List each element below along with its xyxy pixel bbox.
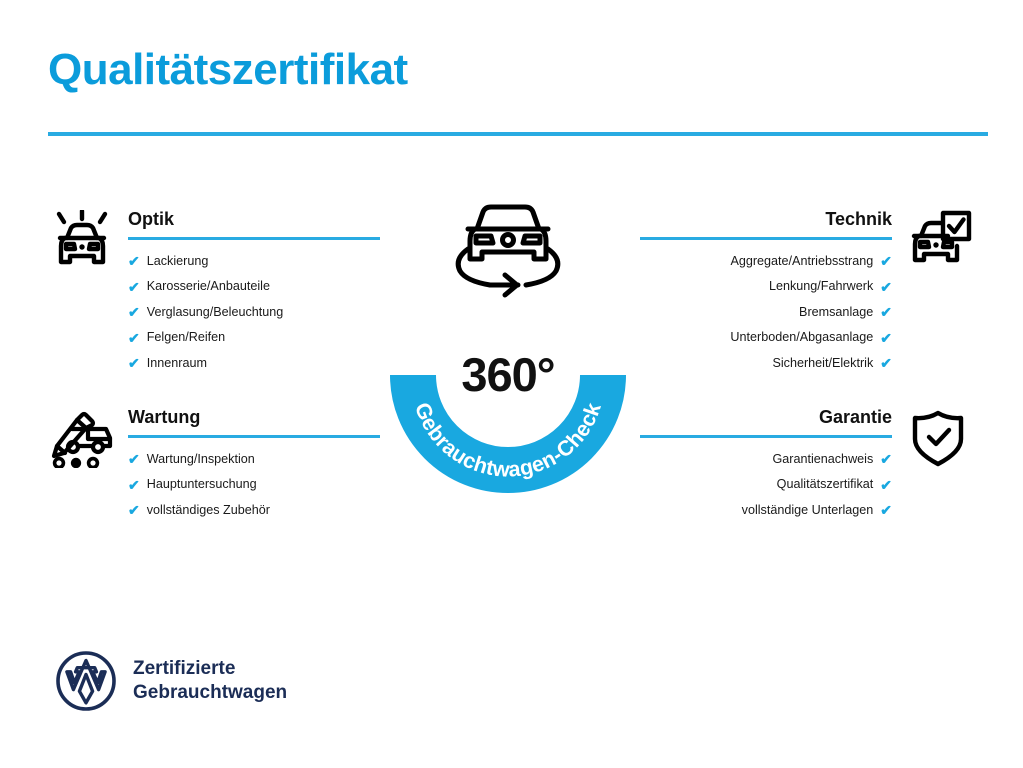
- section-wartung-body: Wartung ✔Wartung/Inspektion ✔Hauptunters…: [128, 408, 380, 529]
- car-checkbox-icon: [904, 210, 972, 277]
- list-item: ✔Lackierung: [128, 254, 380, 280]
- check-icon: ✔: [128, 503, 140, 517]
- list-item-label: Sicherheit/Elektrik: [772, 357, 873, 370]
- check-icon: ✔: [128, 280, 140, 294]
- footer-line-2: Gebrauchtwagen: [133, 681, 287, 705]
- checklist-technik: Aggregate/Antriebsstrang✔ Lenkung/Fahrwe…: [640, 254, 892, 382]
- list-item-label: Innenraum: [147, 357, 207, 370]
- check-icon: ✔: [880, 280, 892, 294]
- list-item-label: Aggregate/Antriebsstrang: [730, 255, 873, 268]
- list-item: ✔Karosserie/Anbauteile: [128, 280, 380, 306]
- list-item-label: Bremsanlage: [799, 306, 873, 319]
- checklist-wartung: ✔Wartung/Inspektion ✔Hauptuntersuchung ✔…: [128, 452, 380, 529]
- list-item: ✔vollständiges Zubehör: [128, 503, 380, 529]
- vw-logo-icon: [55, 650, 117, 712]
- check-icon: ✔: [880, 305, 892, 319]
- check-icon: ✔: [880, 331, 892, 345]
- header-divider: [48, 132, 988, 136]
- list-item-label: Lackierung: [147, 255, 209, 268]
- shield-check-icon: [904, 408, 972, 473]
- check-icon: ✔: [880, 452, 892, 466]
- section-divider: [128, 435, 380, 438]
- list-item: Garantienachweis✔: [640, 452, 892, 478]
- list-item-label: Unterboden/Abgasanlage: [730, 331, 873, 344]
- list-item: Lenkung/Fahrwerk✔: [640, 280, 892, 306]
- check-icon: ✔: [880, 356, 892, 370]
- list-item-label: Felgen/Reifen: [147, 331, 225, 344]
- badge-360-check: Gebrauchtwagen-Check: [388, 195, 628, 495]
- footer-brand-text: Zertifizierte Gebrauchtwagen: [133, 657, 287, 704]
- list-item: ✔Innenraum: [128, 356, 380, 382]
- list-item-label: Lenkung/Fahrwerk: [769, 280, 873, 293]
- check-icon: ✔: [128, 452, 140, 466]
- list-item: ✔Felgen/Reifen: [128, 331, 380, 357]
- check-icon: ✔: [128, 331, 140, 345]
- list-item: Bremsanlage✔: [640, 305, 892, 331]
- checklist-optik: ✔Lackierung ✔Karosserie/Anbauteile ✔Verg…: [128, 254, 380, 382]
- list-item: Unterboden/Abgasanlage✔: [640, 331, 892, 357]
- certificate-page: Qualitätszertifikat Optik: [0, 0, 1023, 768]
- section-heading: Optik: [128, 210, 380, 237]
- footer-line-1: Zertifizierte: [133, 657, 287, 681]
- list-item: vollständige Unterlagen✔: [640, 503, 892, 529]
- pencil-car-service-icon: [48, 408, 116, 473]
- section-heading: Garantie: [640, 408, 892, 435]
- section-heading: Technik: [640, 210, 892, 237]
- list-item-label: Wartung/Inspektion: [147, 453, 255, 466]
- check-icon: ✔: [128, 254, 140, 268]
- list-item: ✔Verglasung/Beleuchtung: [128, 305, 380, 331]
- list-item: ✔Wartung/Inspektion: [128, 452, 380, 478]
- list-item: ✔Hauptuntersuchung: [128, 478, 380, 504]
- section-divider: [640, 237, 892, 240]
- section-optik-body: Optik ✔Lackierung ✔Karosserie/Anbauteile…: [128, 210, 380, 382]
- check-icon: ✔: [128, 478, 140, 492]
- car-rotate-360-icon: [458, 207, 558, 295]
- checklist-garantie: Garantienachweis✔ Qualitätszertifikat✔ v…: [640, 452, 892, 529]
- car-shine-icon: [48, 210, 116, 277]
- page-title: Qualitätszertifikat: [48, 48, 408, 92]
- list-item: Aggregate/Antriebsstrang✔: [640, 254, 892, 280]
- list-item-label: Hauptuntersuchung: [147, 478, 257, 491]
- check-icon: ✔: [880, 503, 892, 517]
- footer-brand: Zertifizierte Gebrauchtwagen: [55, 650, 287, 712]
- check-icon: ✔: [128, 356, 140, 370]
- check-icon: ✔: [128, 305, 140, 319]
- section-divider: [640, 435, 892, 438]
- section-heading: Wartung: [128, 408, 380, 435]
- list-item-label: vollständige Unterlagen: [742, 504, 874, 517]
- list-item: Sicherheit/Elektrik✔: [640, 356, 892, 382]
- section-divider: [128, 237, 380, 240]
- list-item-label: Verglasung/Beleuchtung: [147, 306, 284, 319]
- list-item-label: Garantienachweis: [772, 453, 873, 466]
- list-item-label: Karosserie/Anbauteile: [147, 280, 270, 293]
- section-technik-body: Technik Aggregate/Antriebsstrang✔ Lenkun…: [640, 210, 892, 382]
- check-icon: ✔: [880, 254, 892, 268]
- list-item-label: Qualitätszertifikat: [777, 478, 874, 491]
- check-icon: ✔: [880, 478, 892, 492]
- section-garantie-body: Garantie Garantienachweis✔ Qualitätszert…: [640, 408, 892, 529]
- list-item-label: vollständiges Zubehör: [147, 504, 270, 517]
- list-item: Qualitätszertifikat✔: [640, 478, 892, 504]
